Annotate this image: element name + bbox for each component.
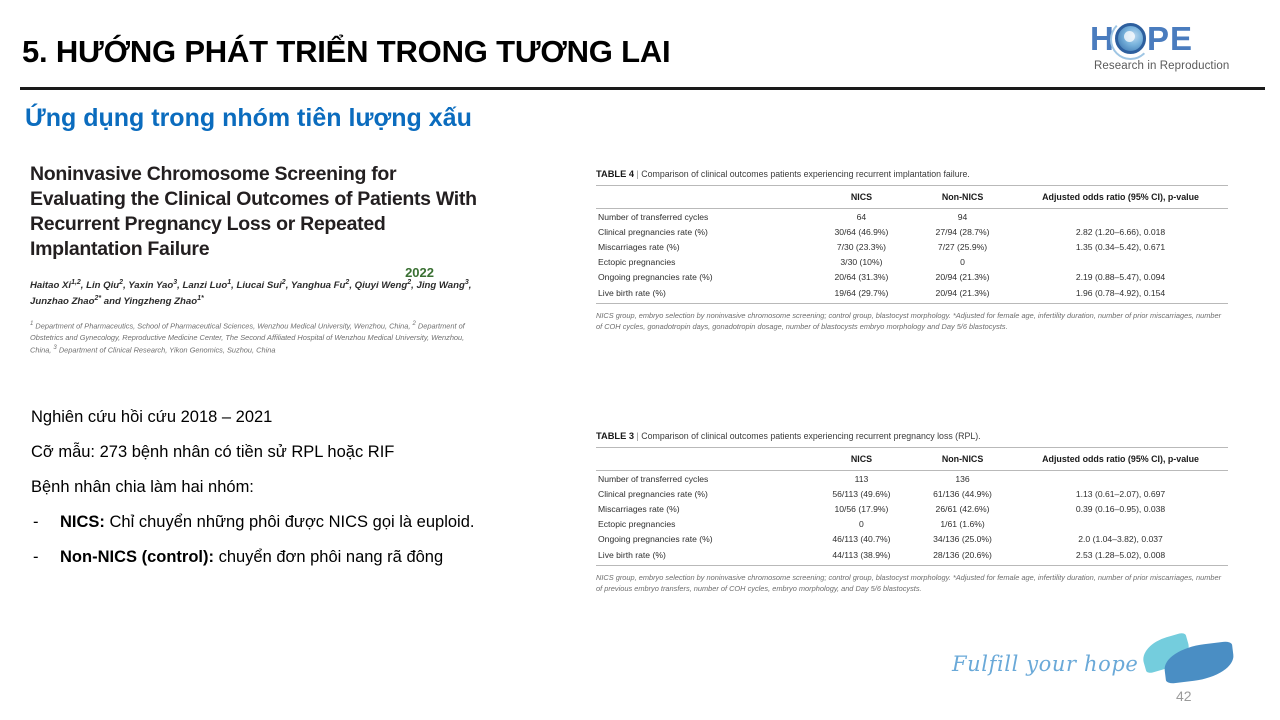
cell-nics: 20/64 (31.3%) [811,270,912,285]
table-header-row: NICS Non-NICS Adjusted odds ratio (95% C… [596,448,1228,471]
table-row: Miscarriages rate (%) 10/56 (17.9%) 26/6… [596,501,1228,516]
page-subtitle: Ứng dụng trong nhóm tiên lượng xấu [25,104,472,133]
cell-nics: 30/64 (46.9%) [811,224,912,239]
table-row: Clinical pregnancies rate (%) 56/113 (49… [596,486,1228,501]
cell-non-nics: 7/27 (25.9%) [912,239,1013,254]
cell-odds-ratio: 1.96 (0.78–4.92), 0.154 [1013,285,1228,303]
cell-odds-ratio: 2.82 (1.20–6.66), 0.018 [1013,224,1228,239]
table-row: Number of transferred cycles 64 94 [596,209,1228,225]
cell-nics: 46/113 (40.7%) [811,532,912,547]
hope-tagline: Research in Reproduction [1094,60,1264,72]
cell-nics: 3/30 (10%) [811,255,912,270]
table-row: Ongoing pregnancies rate (%) 20/64 (31.3… [596,270,1228,285]
title-divider [20,87,1265,90]
cell-nics: 64 [811,209,912,225]
footer-slogan: Fulfill your hope [952,652,1138,676]
cell-non-nics: 27/94 (28.7%) [912,224,1013,239]
cell-odds-ratio: 2.19 (0.88–5.47), 0.094 [1013,270,1228,285]
bullet-text-nics: Chỉ chuyển những phôi được NICS gọi là e… [105,513,475,531]
page-title: 5. HƯỚNG PHÁT TRIỂN TRONG TƯƠNG LAI [22,34,670,70]
cell-nics: 44/113 (38.9%) [811,547,912,565]
table-row: Live birth rate (%) 44/113 (38.9%) 28/13… [596,547,1228,565]
col-header-nics: NICS [811,186,912,209]
caption-separator: | [637,431,639,441]
page-number: 42 [1176,688,1192,704]
table-3-body: Number of transferred cycles 113 136 Cli… [596,471,1228,566]
cell-odds-ratio: 0.39 (0.16–0.95), 0.038 [1013,501,1228,516]
bullet-label-nics: NICS: [60,513,105,531]
cell-odds-ratio [1013,255,1228,270]
year-badge: 2022 [405,265,434,280]
table-4-footnote: NICS group, embryo selection by noninvas… [596,310,1228,332]
cell-nics: 0 [811,517,912,532]
note-line-3: Bệnh nhân chia làm hai nhóm: [31,470,511,505]
table-3-block: TABLE 3 | Comparison of clinical outcome… [596,430,1228,594]
bullet-marker: - [33,505,39,540]
table-4-block: TABLE 4 | Comparison of clinical outcome… [596,168,1228,332]
cell-non-nics: 0 [912,255,1013,270]
cell-non-nics: 20/94 (21.3%) [912,285,1013,303]
bullet-label-non-nics: Non-NICS (control): [60,548,214,566]
note-line-2: Cỡ mẫu: 273 bệnh nhân có tiền sử RPL hoặ… [31,435,511,470]
col-header-metric [596,186,811,209]
table-row: Ectopic pregnancies 0 1/61 (1.6%) [596,517,1228,532]
cell-odds-ratio: 1.13 (0.61–2.07), 0.697 [1013,486,1228,501]
eye-icon [1115,23,1146,54]
cell-non-nics: 94 [912,209,1013,225]
bullet-text-non-nics: chuyển đơn phôi nang rã đông [214,548,443,566]
cell-non-nics: 1/61 (1.6%) [912,517,1013,532]
table-row: Clinical pregnancies rate (%) 30/64 (46.… [596,224,1228,239]
table-3-caption-text: Comparison of clinical outcomes patients… [641,431,980,441]
table-row: Live birth rate (%) 19/64 (29.7%) 20/94 … [596,285,1228,303]
table-row: Ongoing pregnancies rate (%) 46/113 (40.… [596,532,1228,547]
list-item: - NICS: Chỉ chuyển những phôi được NICS … [31,505,511,540]
col-header-non-nics: Non-NICS [912,448,1013,471]
cell-non-nics: 136 [912,471,1013,487]
cell-metric: Ongoing pregnancies rate (%) [596,532,811,547]
col-header-metric [596,448,811,471]
cell-metric: Number of transferred cycles [596,471,811,487]
col-header-odds-ratio: Adjusted odds ratio (95% CI), p-value [1013,448,1228,471]
table-3-footnote: NICS group, embryo selection by noninvas… [596,572,1228,594]
table-4-caption: TABLE 4 | Comparison of clinical outcome… [596,168,1228,180]
cell-nics: 113 [811,471,912,487]
slide-canvas: 5. HƯỚNG PHÁT TRIỂN TRONG TƯƠNG LAI Ứng … [0,0,1280,720]
cell-non-nics: 20/94 (21.3%) [912,270,1013,285]
cell-nics: 56/113 (49.6%) [811,486,912,501]
cell-non-nics: 26/61 (42.6%) [912,501,1013,516]
cell-metric: Ectopic pregnancies [596,517,811,532]
cell-odds-ratio: 2.53 (1.28–5.02), 0.008 [1013,547,1228,565]
cell-nics: 7/30 (23.3%) [811,239,912,254]
caption-separator: | [637,169,639,179]
journal-article-clipping: Noninvasive Chromosome Screening for Eva… [30,162,478,380]
table-4: NICS Non-NICS Adjusted odds ratio (95% C… [596,185,1228,304]
leaf-logo-icon [1142,638,1238,684]
table-row: Number of transferred cycles 113 136 [596,471,1228,487]
hope-logo: H PE Research in Reproduction [1086,22,1266,80]
cell-non-nics: 61/136 (44.9%) [912,486,1013,501]
cell-non-nics: 34/136 (25.0%) [912,532,1013,547]
col-header-odds-ratio: Adjusted odds ratio (95% CI), p-value [1013,186,1228,209]
cell-metric: Clinical pregnancies rate (%) [596,486,811,501]
cell-metric: Ectopic pregnancies [596,255,811,270]
cell-odds-ratio: 1.35 (0.34–5.42), 0.671 [1013,239,1228,254]
table-3-number: TABLE 3 [596,431,634,441]
cell-metric: Live birth rate (%) [596,547,811,565]
table-4-number: TABLE 4 [596,169,634,179]
study-notes: Nghiên cứu hồi cứu 2018 – 2021 Cỡ mẫu: 2… [31,400,511,575]
cell-metric: Miscarriages rate (%) [596,501,811,516]
cell-metric: Number of transferred cycles [596,209,811,225]
table-row: Miscarriages rate (%) 7/30 (23.3%) 7/27 … [596,239,1228,254]
cell-metric: Live birth rate (%) [596,285,811,303]
cell-odds-ratio [1013,471,1228,487]
hope-wordmark: H PE [1086,22,1258,56]
table-4-caption-text: Comparison of clinical outcomes patients… [641,169,970,179]
col-header-nics: NICS [811,448,912,471]
note-line-1: Nghiên cứu hồi cứu 2018 – 2021 [31,400,511,435]
hope-letters-pe: PE [1147,22,1193,56]
table-4-body: Number of transferred cycles 64 94 Clini… [596,209,1228,304]
cell-metric: Ongoing pregnancies rate (%) [596,270,811,285]
cell-odds-ratio: 2.0 (1.04–3.82), 0.037 [1013,532,1228,547]
article-authors: Haitao Xi1,2, Lin Qiu2, Yaxin Yao3, Lanz… [30,276,478,308]
cell-metric: Miscarriages rate (%) [596,239,811,254]
table-3-caption: TABLE 3 | Comparison of clinical outcome… [596,430,1228,442]
cell-nics: 10/56 (17.9%) [811,501,912,516]
cell-nics: 19/64 (29.7%) [811,285,912,303]
article-title: Noninvasive Chromosome Screening for Eva… [30,162,478,262]
cell-odds-ratio [1013,517,1228,532]
article-affiliations: 1 Department of Pharmaceutics, School of… [30,319,478,356]
group-bullet-list: - NICS: Chỉ chuyển những phôi được NICS … [31,505,511,575]
table-row: Ectopic pregnancies 3/30 (10%) 0 [596,255,1228,270]
cell-metric: Clinical pregnancies rate (%) [596,224,811,239]
table-3: NICS Non-NICS Adjusted odds ratio (95% C… [596,447,1228,566]
table-header-row: NICS Non-NICS Adjusted odds ratio (95% C… [596,186,1228,209]
bullet-marker: - [33,540,39,575]
cell-non-nics: 28/136 (20.6%) [912,547,1013,565]
col-header-non-nics: Non-NICS [912,186,1013,209]
list-item: - Non-NICS (control): chuyển đơn phôi na… [31,540,511,575]
cell-odds-ratio [1013,209,1228,225]
